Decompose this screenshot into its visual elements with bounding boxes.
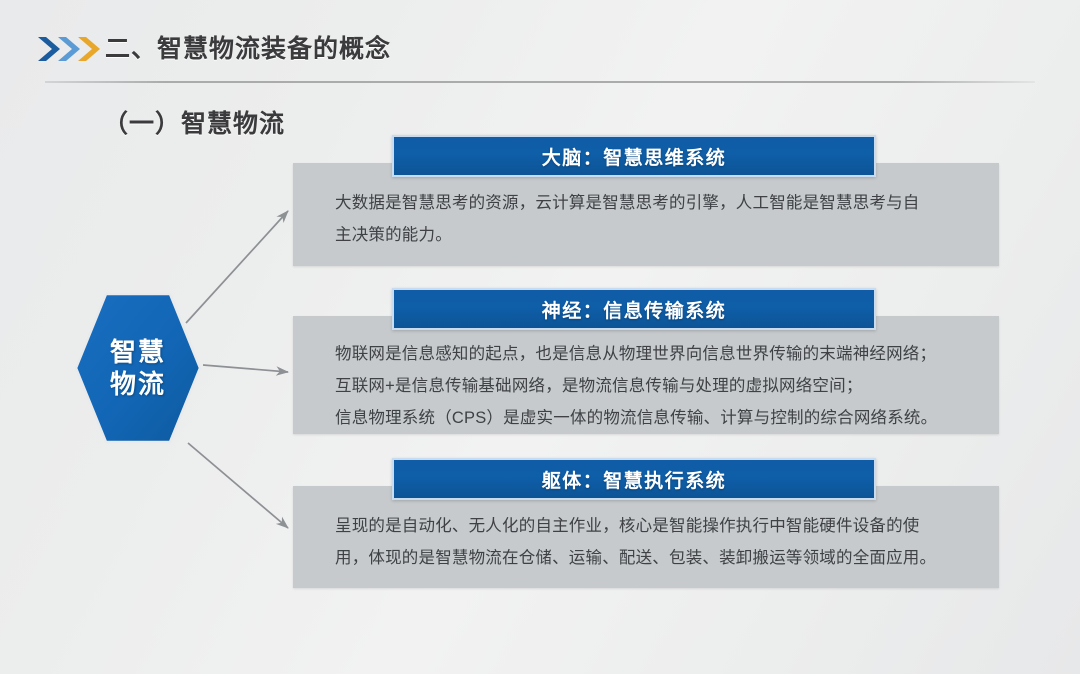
block-header-body[interactable]: 躯体：智慧执行系统 (392, 458, 876, 500)
content-text-body: 呈现的是自动化、无人化的自主作业，核心是智能操作执行中智能硬件设备的使 用，体现… (335, 510, 975, 574)
content-line: 物联网是信息感知的起点，也是信息从物理世界向信息世界传输的末端神经网络； (335, 338, 975, 370)
content-line: 大数据是智慧思考的资源，云计算是智慧思考的引擎，人工智能是智慧思考与自 (335, 187, 975, 219)
block-header-label: 神经：信息传输系统 (542, 296, 727, 323)
content-text-brain: 大数据是智慧思考的资源，云计算是智慧思考的引擎，人工智能是智慧思考与自 主决策的… (335, 187, 975, 251)
block-header-nerve[interactable]: 神经：信息传输系统 (392, 288, 876, 330)
header-divider (45, 81, 1035, 83)
content-text-nerve: 物联网是信息感知的起点，也是信息从物理世界向信息世界传输的末端神经网络； 互联网… (335, 338, 975, 434)
content-line: 用，体现的是智慧物流在仓储、运输、配送、包装、装卸搬运等领域的全面应用。 (335, 542, 975, 574)
slide-header: 二、智慧物流装备的概念 (0, 0, 1080, 92)
content-line: 呈现的是自动化、无人化的自主作业，核心是智能操作执行中智能硬件设备的使 (335, 510, 975, 542)
arrow-to-nerve (203, 365, 288, 372)
chevron-triple-icon (36, 33, 104, 65)
block-header-label: 躯体：智慧执行系统 (542, 466, 727, 493)
block-header-label: 大脑：智慧思维系统 (542, 143, 727, 170)
slide-canvas: 二、智慧物流装备的概念 （一）智慧物流 (0, 0, 1080, 674)
content-block-brain[interactable]: 大数据是智慧思考的资源，云计算是智慧思考的引擎，人工智能是智慧思考与自 主决策的… (293, 135, 999, 266)
page-title: 二、智慧物流装备的概念 (105, 33, 391, 65)
hexagon-shape (76, 294, 200, 442)
content-block-body[interactable]: 呈现的是自动化、无人化的自主作业，核心是智能操作执行中智能硬件设备的使 用，体现… (293, 458, 999, 588)
arrow-to-body (188, 443, 288, 528)
content-line: 互联网+是信息传输基础网络，是物流信息传输与处理的虚拟网络空间； (335, 370, 975, 402)
content-block-nerve[interactable]: 物联网是信息感知的起点，也是信息从物理世界向信息世界传输的末端神经网络； 互联网… (293, 288, 999, 434)
section-subtitle: （一）智慧物流 (103, 104, 285, 140)
content-line: 信息物理系统（CPS）是虚实一体的物流信息传输、计算与控制的综合网络系统。 (335, 402, 975, 434)
hexagon-node-smart-logistics[interactable]: 智慧 物流 (74, 292, 202, 444)
block-header-brain[interactable]: 大脑：智慧思维系统 (392, 135, 876, 177)
content-line: 主决策的能力。 (335, 219, 975, 251)
